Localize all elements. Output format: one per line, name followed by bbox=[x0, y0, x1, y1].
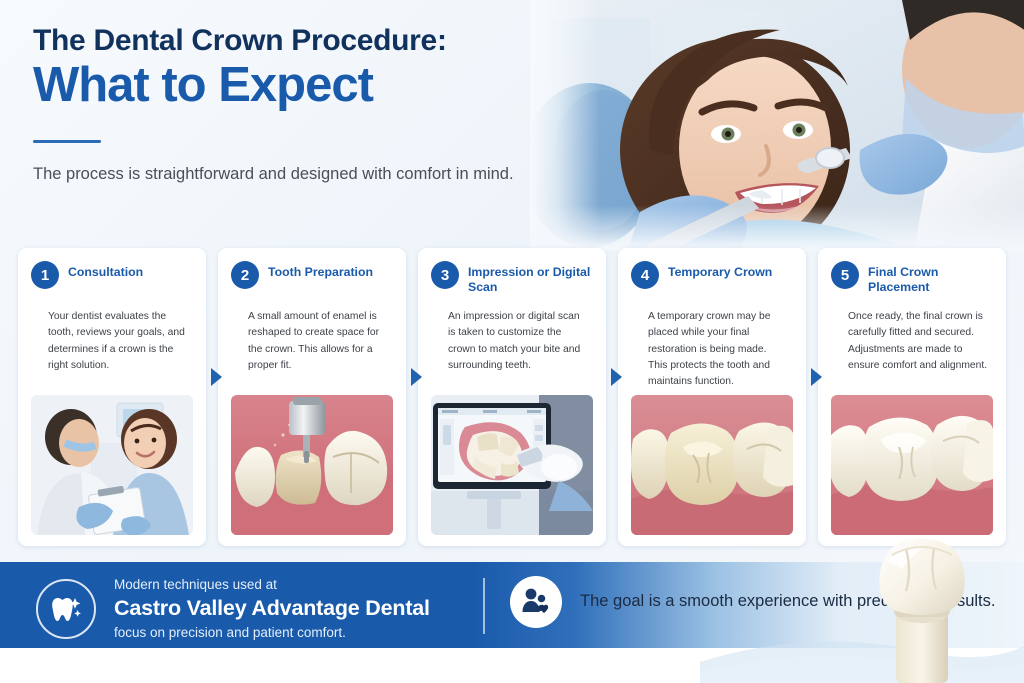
steps-row: 1 Consultation Your dentist evaluates th… bbox=[18, 248, 1008, 548]
step-image-consultation bbox=[31, 395, 193, 535]
step-image-final-crown bbox=[831, 395, 993, 535]
step-card-3[interactable]: 3 Impression or Digital Scan An impressi… bbox=[418, 248, 606, 546]
step-card-4[interactable]: 4 Temporary Crown A temporary crown may … bbox=[618, 248, 806, 546]
step-title: Impression or Digital Scan bbox=[468, 260, 593, 296]
crown-3d-graphic bbox=[862, 527, 982, 683]
footer-left-line1: Modern techniques used at bbox=[114, 575, 430, 595]
step-image-tooth-preparation bbox=[231, 395, 393, 535]
step-title: Consultation bbox=[68, 260, 143, 280]
accent-divider bbox=[33, 140, 101, 143]
page-title-line2: What to Expect bbox=[33, 59, 533, 112]
tooth-sparkle-icon bbox=[36, 579, 96, 639]
step-description: An impression or digital scan is taken t… bbox=[448, 309, 588, 374]
step-number-badge: 3 bbox=[431, 261, 459, 289]
step-card-2[interactable]: 2 Tooth Preparation A small amount of en… bbox=[218, 248, 406, 546]
step-header: 1 Consultation bbox=[31, 260, 193, 300]
step-description: Once ready, the final crown is carefully… bbox=[848, 309, 988, 374]
step-header: 3 Impression or Digital Scan bbox=[431, 260, 593, 300]
footer-left-block: Modern techniques used at Castro Valley … bbox=[36, 575, 430, 643]
step-number-badge: 2 bbox=[231, 261, 259, 289]
step-connector-arrow bbox=[411, 368, 422, 386]
page-title-line1: The Dental Crown Procedure: bbox=[33, 24, 533, 57]
footer-left-line3: focus on precision and patient comfort. bbox=[114, 623, 430, 643]
step-title: Temporary Crown bbox=[668, 260, 772, 280]
step-card-5[interactable]: 5 Final Crown Placement Once ready, the … bbox=[818, 248, 1006, 546]
footer-divider bbox=[483, 578, 485, 634]
footer-left-text: Modern techniques used at Castro Valley … bbox=[114, 575, 430, 643]
step-number-badge: 4 bbox=[631, 261, 659, 289]
step-description: A temporary crown may be placed while yo… bbox=[648, 309, 788, 390]
hero-image bbox=[530, 0, 1024, 250]
infographic-page: The Dental Crown Procedure: What to Expe… bbox=[0, 0, 1024, 683]
step-number-badge: 5 bbox=[831, 261, 859, 289]
step-connector-arrow bbox=[611, 368, 622, 386]
step-description: Your dentist evaluates the tooth, review… bbox=[48, 309, 188, 374]
step-header: 4 Temporary Crown bbox=[631, 260, 793, 300]
family-heart-icon bbox=[510, 576, 562, 628]
step-number-badge: 1 bbox=[31, 261, 59, 289]
page-subtitle: The process is straightforward and desig… bbox=[33, 163, 533, 187]
step-image-temporary-crown bbox=[631, 395, 793, 535]
step-header: 5 Final Crown Placement bbox=[831, 260, 993, 300]
step-connector-arrow bbox=[211, 368, 222, 386]
step-card-1[interactable]: 1 Consultation Your dentist evaluates th… bbox=[18, 248, 206, 546]
step-image-digital-scan bbox=[431, 395, 593, 535]
footer-brand-name: Castro Valley Advantage Dental bbox=[114, 595, 430, 623]
step-title: Final Crown Placement bbox=[868, 260, 993, 296]
step-header: 2 Tooth Preparation bbox=[231, 260, 393, 300]
header-block: The Dental Crown Procedure: What to Expe… bbox=[33, 24, 533, 187]
step-connector-arrow bbox=[811, 368, 822, 386]
step-description: A small amount of enamel is reshaped to … bbox=[248, 309, 388, 374]
step-title: Tooth Preparation bbox=[268, 260, 373, 280]
